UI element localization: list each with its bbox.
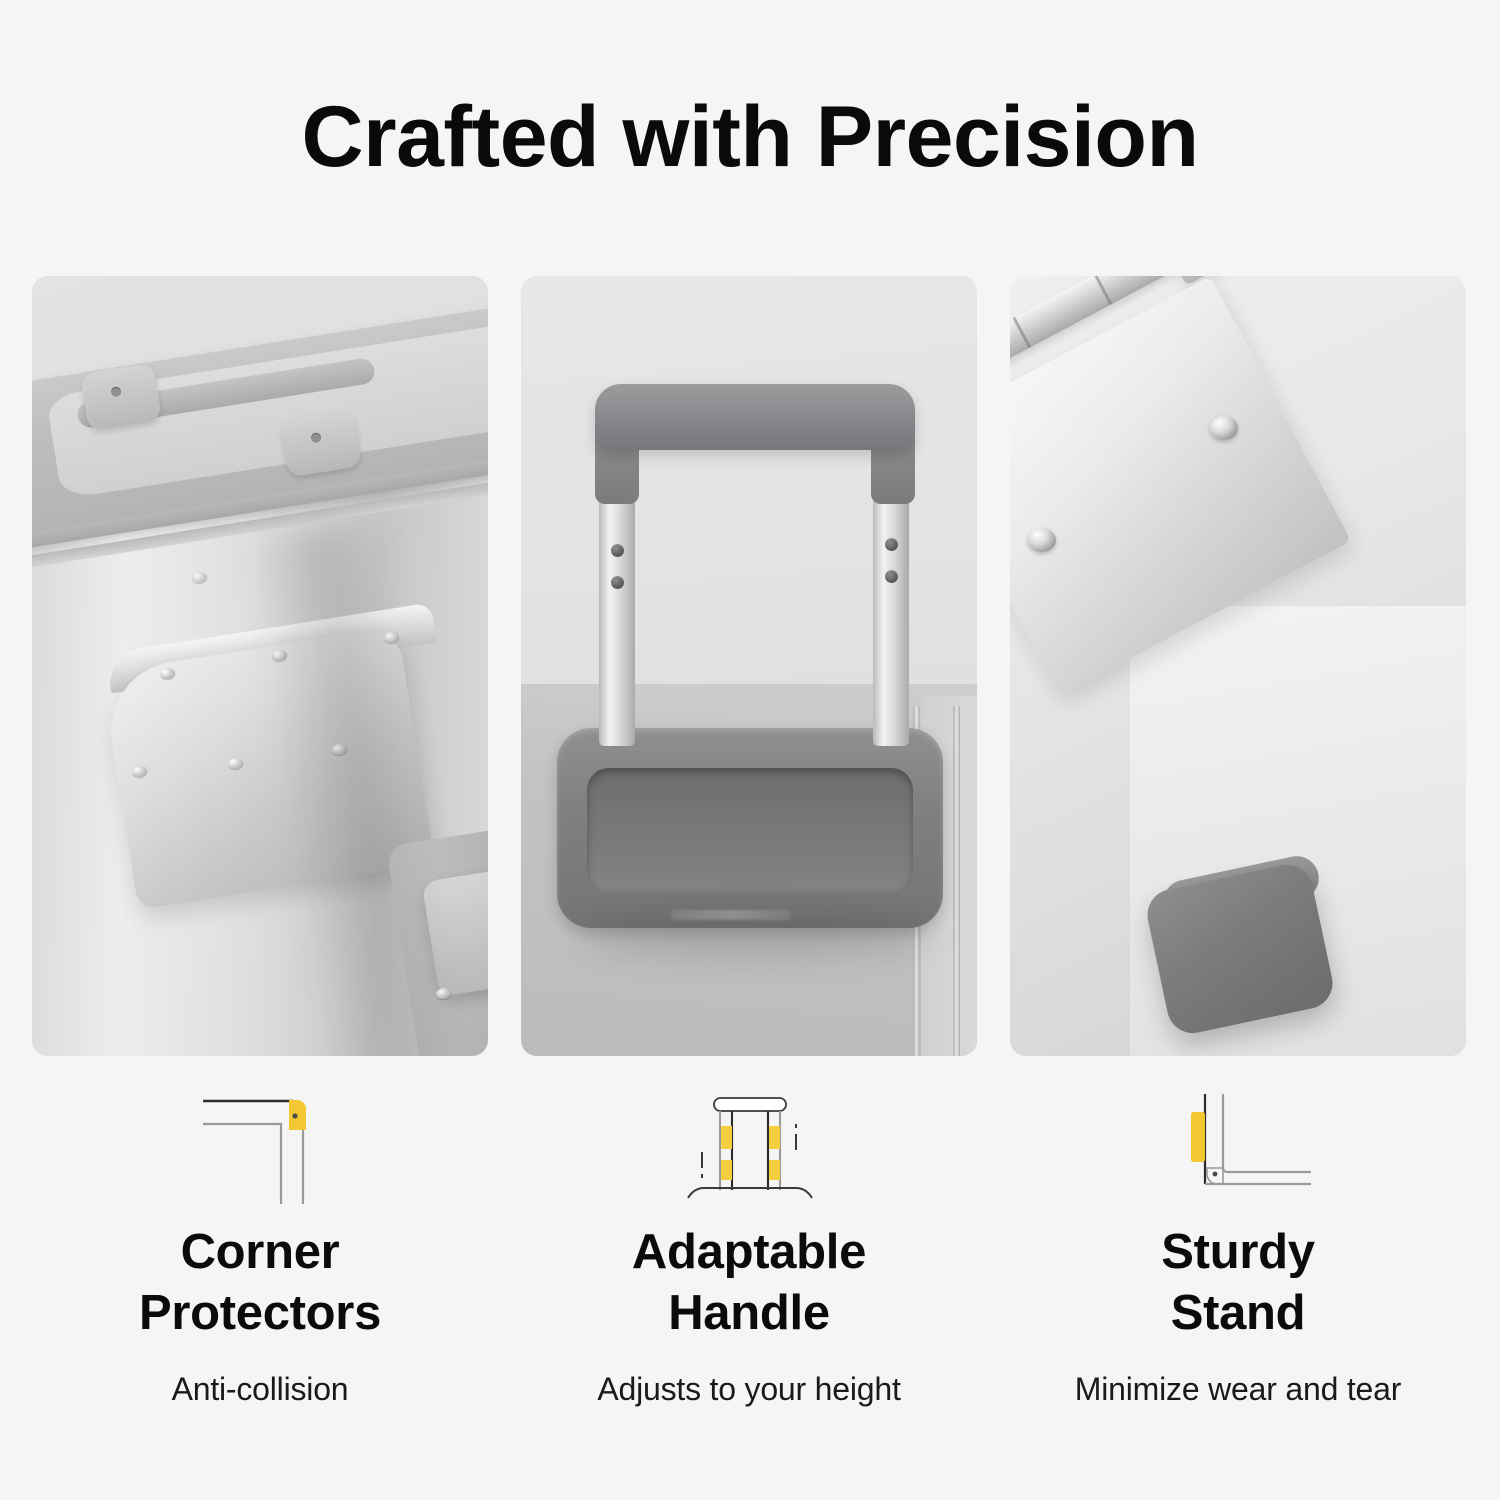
suitcase-hinge-stand-photo — [1010, 276, 1466, 1056]
icon-cell-corner-protectors — [32, 1085, 488, 1205]
feature-photo-corner-protectors — [32, 276, 488, 1056]
caption-subtitle: Minimize wear and tear — [1010, 1370, 1466, 1408]
caption-title-line2: Stand — [1010, 1283, 1466, 1344]
adjustable-handle-icon — [674, 1086, 824, 1204]
feature-image-row — [32, 276, 1468, 1056]
caption-title: Adaptable Handle — [521, 1222, 977, 1344]
feature-photo-sturdy-stand — [1010, 276, 1466, 1056]
page-title: Crafted with Precision — [0, 92, 1500, 182]
suitcase-corner-photo — [32, 276, 488, 1056]
caption-subtitle: Adjusts to your height — [521, 1370, 977, 1408]
suitcase-handle-photo — [521, 276, 977, 1056]
caption-title: Corner Protectors — [32, 1222, 488, 1344]
caption-title: Sturdy Stand — [1010, 1222, 1466, 1344]
corner-protector-icon — [185, 1086, 335, 1204]
caption-title-line1: Corner — [32, 1222, 488, 1283]
caption-title-line1: Adaptable — [521, 1222, 977, 1283]
product-feature-banner: Crafted with Precision — [0, 0, 1500, 1500]
icon-cell-sturdy-stand — [1010, 1085, 1466, 1205]
caption-title-line1: Sturdy — [1010, 1222, 1466, 1283]
caption-corner-protectors: Corner Protectors Anti-collision — [32, 1222, 488, 1408]
icon-cell-adaptable-handle — [521, 1085, 977, 1205]
caption-sturdy-stand: Sturdy Stand Minimize wear and tear — [1010, 1222, 1466, 1408]
feature-caption-row: Corner Protectors Anti-collision Adaptab… — [32, 1222, 1468, 1408]
caption-title-line2: Handle — [521, 1283, 977, 1344]
caption-subtitle: Anti-collision — [32, 1370, 488, 1408]
caption-title-line2: Protectors — [32, 1283, 488, 1344]
sturdy-stand-icon — [1163, 1086, 1313, 1204]
feature-icon-row — [32, 1085, 1468, 1205]
caption-adaptable-handle: Adaptable Handle Adjusts to your height — [521, 1222, 977, 1408]
feature-photo-adaptable-handle — [521, 276, 977, 1056]
